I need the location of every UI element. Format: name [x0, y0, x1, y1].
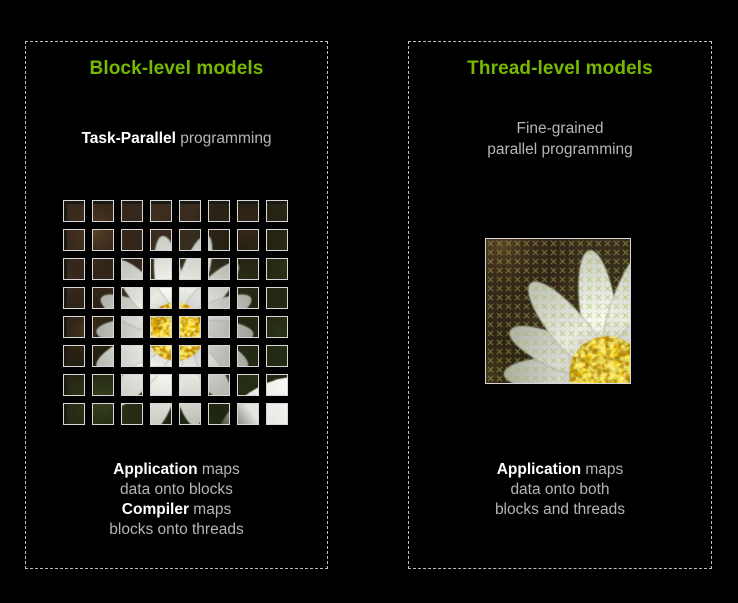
subtitle-line-1: Fine-grained [409, 118, 711, 139]
footnote-rest: maps [198, 461, 240, 478]
subtitle-task-parallel: Task-Parallel programming [26, 128, 327, 149]
subtitle-line-2: parallel programming [409, 139, 711, 160]
block-tile [237, 229, 259, 251]
block-tile [92, 287, 114, 309]
block-tile [208, 374, 230, 396]
block-tile [121, 345, 143, 367]
block-tile [266, 229, 288, 251]
block-tile [150, 403, 172, 425]
subtitle-rest: programming [176, 130, 272, 147]
block-tile [121, 374, 143, 396]
block-tile [150, 345, 172, 367]
block-tile [92, 200, 114, 222]
subtitle-emphasis: Task-Parallel [81, 130, 176, 147]
block-tile [150, 258, 172, 280]
block-tile [121, 316, 143, 338]
block-tile [63, 345, 85, 367]
panel-title-thread-level: Thread-level models [409, 58, 711, 80]
block-tile [266, 200, 288, 222]
block-tile [266, 316, 288, 338]
block-tile [92, 229, 114, 251]
block-tile [150, 316, 172, 338]
block-tile [63, 200, 85, 222]
block-tile [237, 200, 259, 222]
panel-title-block-level: Block-level models [26, 58, 327, 80]
block-tile [179, 374, 201, 396]
footnote-application-maps-blocks: Application maps data onto blocks [26, 460, 327, 500]
footnote-emphasis: Compiler [122, 501, 189, 518]
footnote-rest: maps [581, 461, 623, 478]
block-tile [150, 287, 172, 309]
block-tile [179, 229, 201, 251]
footnote-line-2: blocks onto threads [26, 520, 327, 540]
panel-block-level-models: Block-level models Task-Parallel program… [25, 41, 328, 569]
block-tile [179, 200, 201, 222]
block-tile [121, 403, 143, 425]
block-tile [208, 258, 230, 280]
block-tile [63, 316, 85, 338]
block-tile [63, 258, 85, 280]
block-tile [121, 258, 143, 280]
thread-level-flower-image [485, 238, 631, 384]
block-tile-grid [63, 200, 291, 429]
block-tile [266, 374, 288, 396]
block-tile [63, 287, 85, 309]
block-tile [208, 403, 230, 425]
block-tile [121, 287, 143, 309]
block-tile [266, 345, 288, 367]
block-tile [121, 200, 143, 222]
block-tile [208, 316, 230, 338]
footnote-line-2: data onto both [409, 480, 711, 500]
thread-x-marks-overlay [486, 239, 630, 383]
block-tile [150, 374, 172, 396]
block-tile [237, 345, 259, 367]
block-tile [92, 403, 114, 425]
block-tile [179, 287, 201, 309]
panel-thread-level-models: Thread-level models Fine-grained paralle… [408, 41, 712, 569]
block-tile [208, 345, 230, 367]
block-tile [63, 374, 85, 396]
block-tile [92, 316, 114, 338]
block-tile [266, 287, 288, 309]
block-tile [92, 374, 114, 396]
footnote-application-maps-both: Application maps data onto both blocks a… [409, 460, 711, 520]
footnote-line-1: Compiler maps [26, 500, 327, 520]
block-tile [150, 229, 172, 251]
footnote-line-3: blocks and threads [409, 500, 711, 520]
block-tile [237, 316, 259, 338]
footnote-emphasis: Application [497, 461, 581, 478]
block-tile [150, 200, 172, 222]
block-tile [179, 345, 201, 367]
footnote-line-2: data onto blocks [26, 480, 327, 500]
block-tile [92, 345, 114, 367]
block-tile [208, 200, 230, 222]
block-tile [266, 258, 288, 280]
block-tile [121, 229, 143, 251]
block-tile [237, 374, 259, 396]
block-tile [179, 403, 201, 425]
block-tile [237, 403, 259, 425]
block-tile [237, 258, 259, 280]
block-tile [63, 403, 85, 425]
block-tile [179, 258, 201, 280]
block-tile [179, 316, 201, 338]
block-tile [208, 229, 230, 251]
footnote-line-1: Application maps [26, 460, 327, 480]
block-tile [237, 287, 259, 309]
subtitle-fine-grained: Fine-grained parallel programming [409, 118, 711, 160]
block-tile [208, 287, 230, 309]
footnote-line-1: Application maps [409, 460, 711, 480]
block-tile [63, 229, 85, 251]
block-tile [266, 403, 288, 425]
footnote-rest: maps [189, 501, 231, 518]
block-tile [92, 258, 114, 280]
footnote-compiler-maps-threads: Compiler maps blocks onto threads [26, 500, 327, 540]
footnote-emphasis: Application [113, 461, 197, 478]
